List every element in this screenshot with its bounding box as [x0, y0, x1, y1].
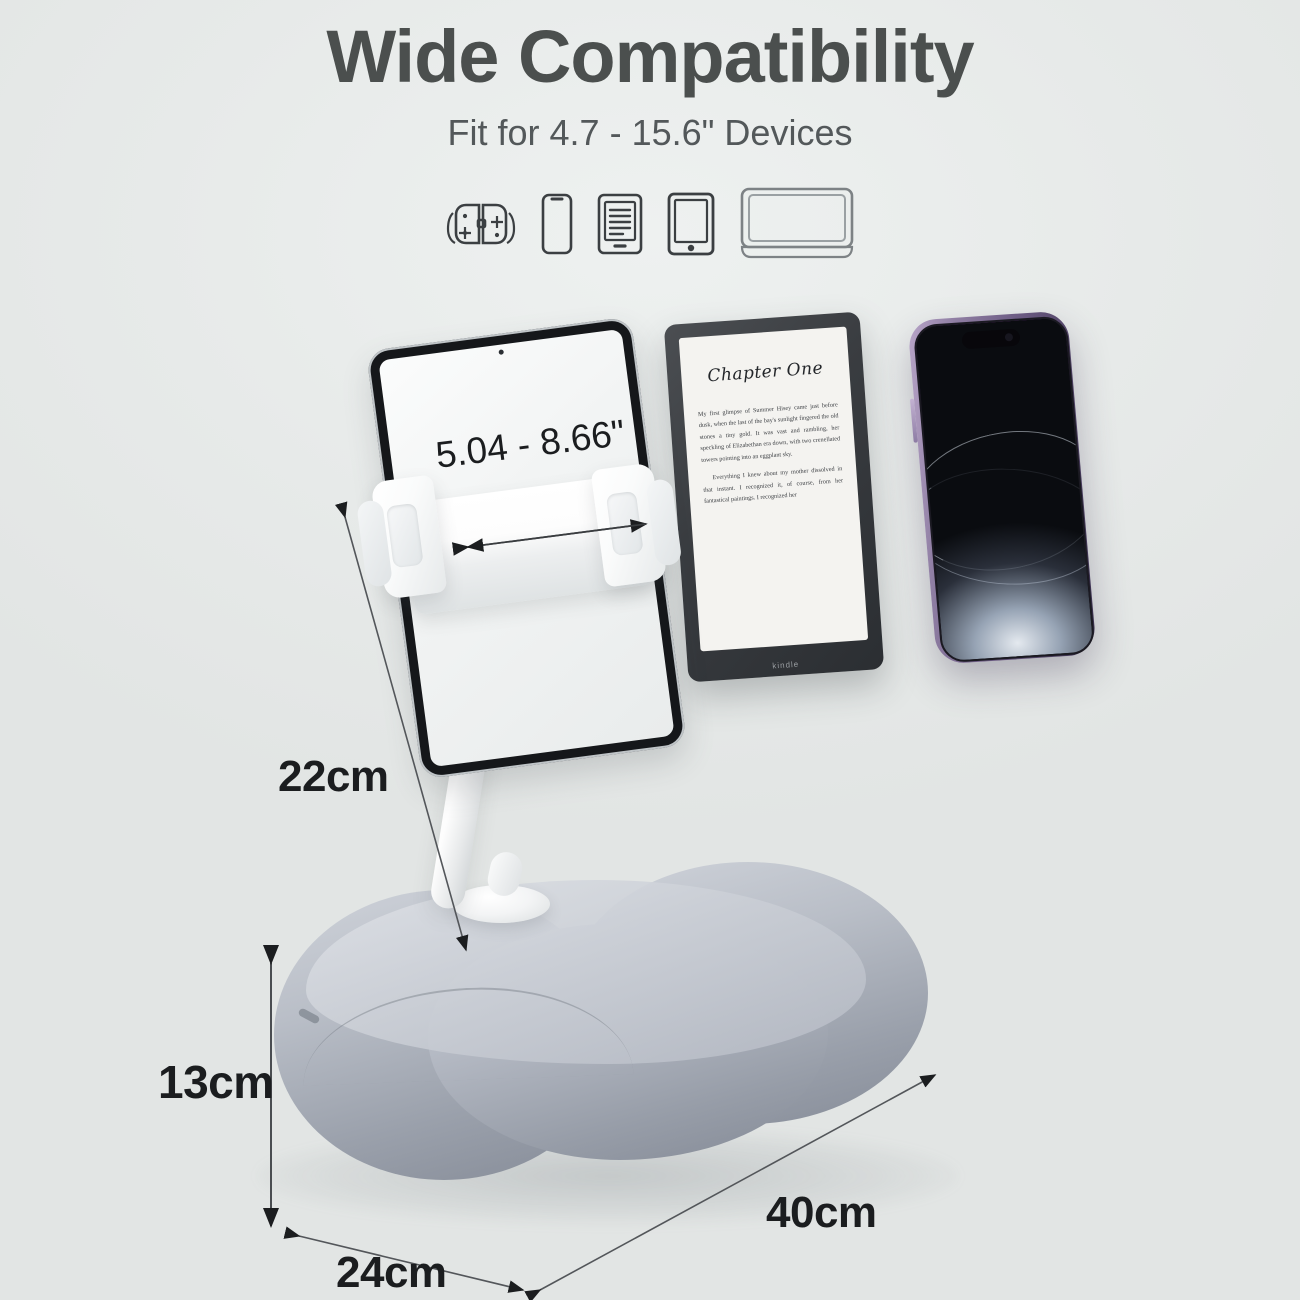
kindle-paragraph: Everything I knew about my mother dissol… — [702, 464, 844, 508]
kindle-paragraph: My first glimpse of Summer Hisey came ju… — [698, 399, 842, 466]
smartphone-device — [907, 310, 1097, 664]
base-depth-label: 24cm — [336, 1248, 447, 1298]
kindle-screen: Chapter One My first glimpse of Summer H… — [679, 327, 868, 652]
base-height-label: 13cm — [158, 1055, 274, 1109]
kindle-device: Chapter One My first glimpse of Summer H… — [664, 312, 884, 683]
clamp-pad — [606, 491, 644, 556]
base-width-label: 40cm — [766, 1188, 877, 1238]
phone-screen — [913, 315, 1096, 663]
kindle-chapter-title: Chapter One — [695, 357, 836, 387]
product-infographic: Wide Compatibility Fit for 4.7 - 15.6" D… — [0, 0, 1300, 1300]
pillow-base — [268, 862, 928, 1180]
phone-side-button — [910, 399, 918, 443]
height-label: 22cm — [278, 752, 389, 802]
wallpaper-swirl — [913, 465, 1096, 588]
kindle-brand-logo: kindle — [688, 654, 884, 677]
clamp-pad — [386, 503, 424, 568]
tablet-camera — [498, 349, 504, 355]
dynamic-island — [961, 329, 1020, 350]
